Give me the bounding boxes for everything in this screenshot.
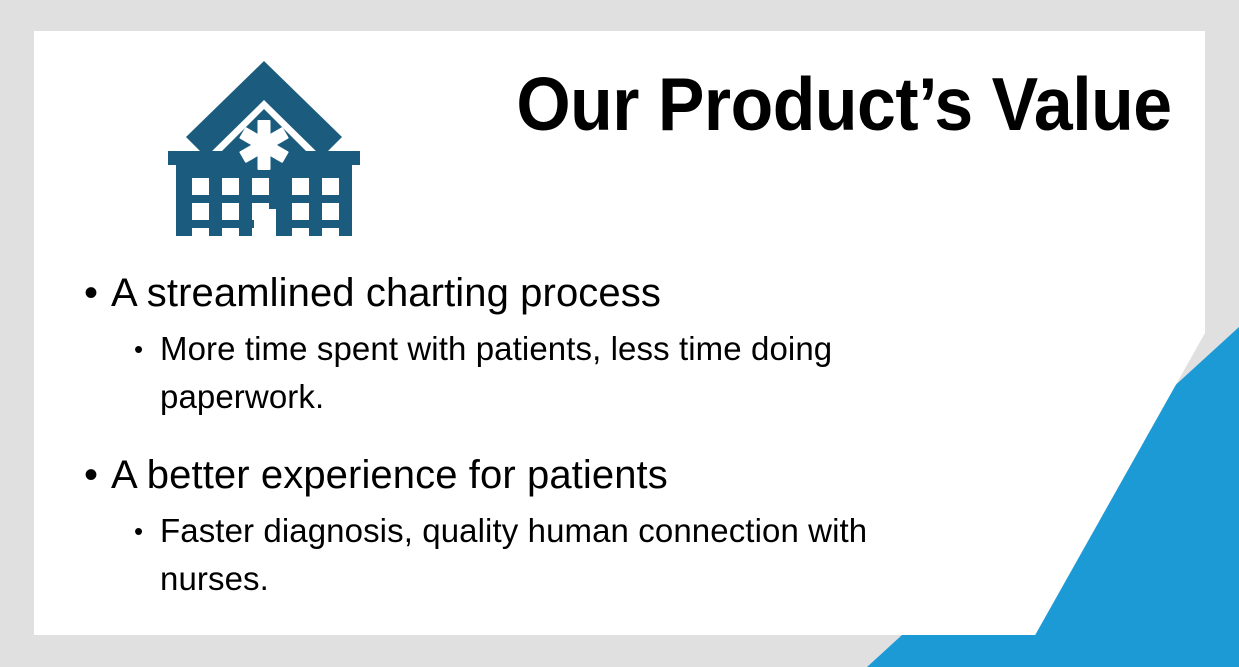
- bullet-marker: •: [84, 449, 111, 501]
- bullet-item-primary-1: • A streamlined charting process: [84, 267, 1084, 319]
- bullet-item-secondary-1: • More time spent with patients, less ti…: [134, 325, 1084, 421]
- page-title: Our Product’s Value: [517, 67, 1172, 142]
- slide-header: Our Product’s Value: [34, 31, 1205, 241]
- bullet-marker: •: [134, 325, 160, 373]
- bullet-list: • A streamlined charting process • More …: [84, 239, 1084, 603]
- bullet-text: A streamlined charting process: [111, 267, 661, 319]
- bullet-text: A better experience for patients: [111, 449, 668, 501]
- bullet-text: More time spent with patients, less time…: [160, 325, 960, 421]
- bullet-marker: •: [134, 507, 160, 555]
- bullet-marker: •: [84, 267, 111, 319]
- bullet-text: Faster diagnosis, quality human connecti…: [160, 507, 960, 603]
- hospital-icon: [130, 41, 370, 236]
- slide-canvas: Our Product’s Value • A streamlined char…: [0, 0, 1239, 667]
- bullet-item-primary-2: • A better experience for patients: [84, 449, 1084, 501]
- content-card: Our Product’s Value • A streamlined char…: [34, 31, 1205, 635]
- bullet-item-secondary-2: • Faster diagnosis, quality human connec…: [134, 507, 1084, 603]
